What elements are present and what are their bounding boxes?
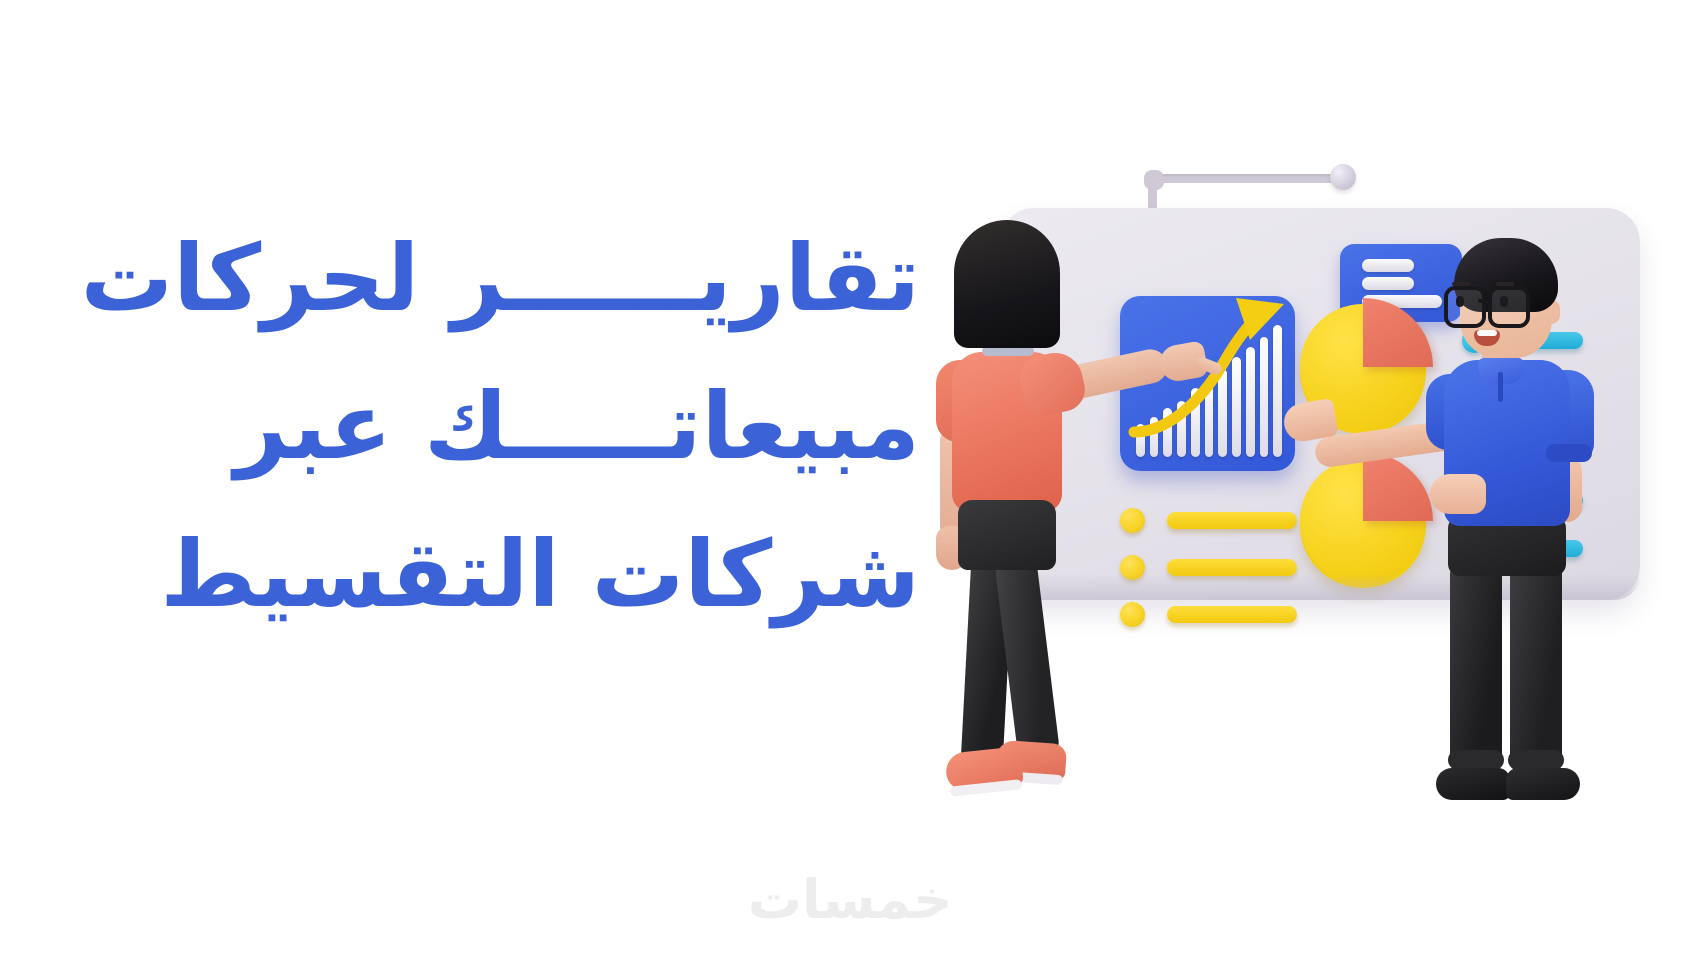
headline-line-2: مبيعاتـــــك عبر [60, 353, 920, 501]
connector-dot-right [1330, 164, 1356, 190]
glasses-lens-right [1488, 286, 1530, 328]
man-shoe-right [1506, 768, 1580, 800]
list-item-bar [1167, 512, 1297, 529]
headline-line-3: شركات التقسيط [60, 501, 920, 649]
man-presenter [1410, 238, 1610, 808]
watermark-khamsat: خمسات [700, 868, 1000, 931]
yellow-list [1120, 508, 1297, 649]
headline-line-1: تقاريــــــر لحركات [60, 205, 920, 353]
man-eyebrow-left [1452, 282, 1470, 286]
woman-hair [954, 220, 1060, 348]
man-leg-left [1450, 560, 1502, 772]
header-card-bar-2 [1362, 277, 1414, 290]
connector-line [1148, 174, 1344, 183]
bullet-dot-icon [1120, 508, 1145, 533]
man-eye-left [1456, 296, 1464, 307]
man-eyebrow-right [1496, 282, 1514, 286]
man-pant-cuff-right [1508, 750, 1564, 770]
illustration [900, 120, 1660, 820]
bullet-dot-icon [1120, 555, 1145, 580]
woman-presenter [910, 210, 1090, 810]
woman-hips [958, 500, 1056, 570]
man-shirt-placket [1498, 372, 1503, 402]
poster-canvas: تقاريــــــر لحركات مبيعاتـــــك عبر شرك… [0, 0, 1700, 970]
woman-shoe-left [944, 746, 1024, 792]
man-sleeve-cuff-right [1546, 444, 1592, 462]
man-shoe-left [1436, 768, 1510, 800]
header-card-bar-1 [1362, 259, 1414, 272]
list-item-bar [1167, 559, 1297, 576]
man-eye-right [1500, 296, 1508, 307]
page-title: تقاريــــــر لحركات مبيعاتـــــك عبر شرك… [60, 205, 920, 649]
list-item-bar [1167, 606, 1297, 623]
list-item [1120, 602, 1297, 627]
list-item [1120, 555, 1297, 580]
list-item [1120, 508, 1297, 533]
man-hand-right-resting [1430, 474, 1486, 514]
man-leg-right [1510, 560, 1562, 772]
bullet-dot-icon [1120, 602, 1145, 627]
glasses-lens-left [1444, 286, 1486, 328]
man-pant-cuff-left [1448, 750, 1504, 770]
pie-chart [1300, 458, 1426, 584]
